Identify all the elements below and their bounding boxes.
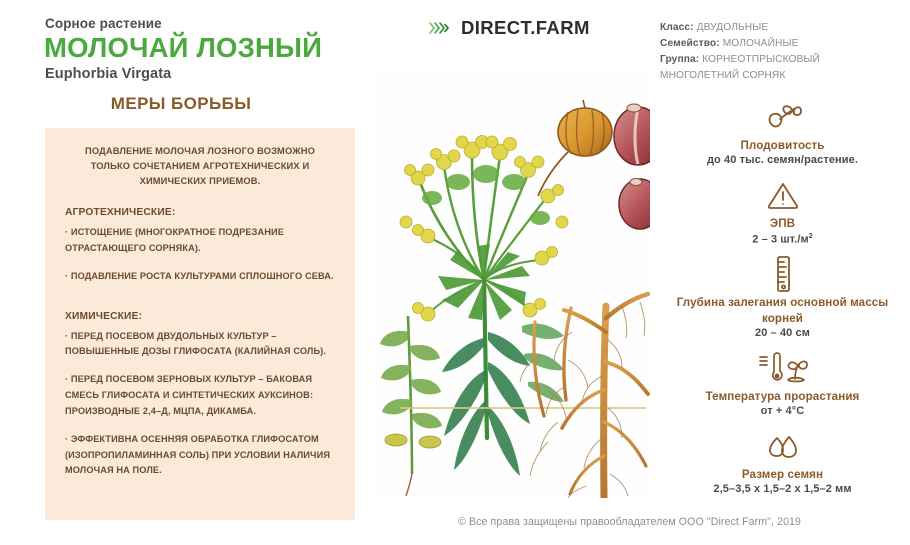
intro-text: ПОДАВЛЕНИЕ МОЛОЧАЯ ЛОЗНОГО ВОЗМОЖНО ТОЛЬ… bbox=[65, 144, 335, 189]
taxonomy-block: Класс: ДВУДОЛЬНЫЕ Семейство: МОЛОЧАЙНЫЕ … bbox=[660, 20, 910, 84]
chemical-heading: ХИМИЧЕСКИЕ: bbox=[65, 311, 335, 322]
fact-value: от + 4°C bbox=[655, 405, 910, 417]
list-item: · ПЕРЕД ПОСЕВОМ ЗЕРНОВЫХ КУЛЬТУР – БАКОВ… bbox=[65, 372, 335, 419]
taxonomy-class-row: Класс: ДВУДОЛЬНЫЕ bbox=[660, 20, 910, 36]
taxonomy-group-value: КОРНЕОТПРЫСКОВЫЙ bbox=[702, 54, 820, 65]
control-measures-panel: ПОДАВЛЕНИЕ МОЛОЧАЯ ЛОЗНОГО ВОЗМОЖНО ТОЛЬ… bbox=[45, 128, 355, 520]
fact-title: Глубина залегания основной массы корней bbox=[655, 295, 910, 326]
taxonomy-group-value-continued: МНОГОЛЕТНИЙ СОРНЯК bbox=[660, 68, 910, 84]
list-item: · ПОДАВЛЕНИЕ РОСТА КУЛЬТУРАМИ СПЛОШНОГО … bbox=[65, 269, 335, 285]
measures-section-title: МЕРЫ БОРЬБЫ bbox=[0, 94, 362, 114]
fact-economic-threshold: ЭПВ 2 – 3 шт./м2 bbox=[655, 178, 910, 245]
right-column: Класс: ДВУДОЛЬНЫЕ Семейство: МОЛОЧАЙНЫЕ … bbox=[655, 0, 910, 545]
section-spacer bbox=[65, 297, 335, 311]
list-item: · ИСТОЩЕНИЕ (МНОГОКРАТНОЕ ПОДРЕЗАНИЕ ОТР… bbox=[65, 225, 335, 257]
list-item: · ЭФФЕКТИВНА ОСЕННЯЯ ОБРАБОТКА ГЛИФОСАТО… bbox=[65, 432, 335, 479]
fact-seed-size: Размер семян 2,5–3,5 х 1,5–2 х 1,5–2 мм bbox=[655, 429, 910, 495]
fact-title: Плодовитость bbox=[655, 138, 910, 153]
fact-value-text: 2 – 3 шт./м bbox=[752, 233, 808, 245]
copyright-footer: © Все права защищены правообладателем ОО… bbox=[458, 516, 801, 528]
fact-value: 20 – 40 см bbox=[655, 327, 910, 339]
fact-fecundity: Плодовитость до 40 тыс. семян/растение. bbox=[655, 100, 910, 166]
euphorbia-virgata-botanical-illustration bbox=[372, 70, 650, 498]
ruler-icon bbox=[655, 257, 910, 291]
page-title: МОЛОЧАЙ ЛОЗНЫЙ bbox=[44, 32, 322, 64]
sprouting-seed-icon bbox=[655, 100, 910, 134]
agrotechnical-heading: АГРОТЕХНИЧЕСКИЕ: bbox=[65, 207, 335, 218]
taxonomy-class-label: Класс: bbox=[660, 22, 694, 33]
thermometer-sprout-icon bbox=[655, 351, 910, 385]
logo-wordmark: DIRECT.FARM bbox=[461, 17, 590, 39]
wave-chevrons-icon bbox=[428, 19, 452, 37]
list-item: · ПЕРЕД ПОСЕВОМ ДВУДОЛЬНЫХ КУЛЬТУР – ПОВ… bbox=[65, 329, 335, 361]
facts-list: Плодовитость до 40 тыс. семян/растение. … bbox=[655, 100, 910, 507]
fact-title: ЭПВ bbox=[655, 216, 910, 231]
fact-title: Температура прорастания bbox=[655, 389, 910, 404]
taxonomy-family-value: МОЛОЧАЙНЫЕ bbox=[723, 38, 799, 49]
two-seeds-icon bbox=[655, 429, 910, 463]
fact-root-depth: Глубина залегания основной массы корней … bbox=[655, 257, 910, 339]
warning-triangle-icon bbox=[655, 178, 910, 212]
latin-name-label: Euphorbia Virgata bbox=[45, 66, 171, 82]
kicker-label: Сорное растение bbox=[45, 16, 162, 31]
fact-value: до 40 тыс. семян/растение. bbox=[655, 154, 910, 166]
fact-germination-temperature: Температура прорастания от + 4°C bbox=[655, 351, 910, 417]
fact-value-superscript: 2 bbox=[809, 233, 813, 240]
fact-title: Размер семян bbox=[655, 467, 910, 482]
left-column: Сорное растение МОЛОЧАЙ ЛОЗНЫЙ Euphorbia… bbox=[0, 0, 362, 545]
fact-value: 2 – 3 шт./м2 bbox=[655, 233, 910, 246]
taxonomy-group-row: Группа: КОРНЕОТПРЫСКОВЫЙ bbox=[660, 52, 910, 68]
brand-logo[interactable]: DIRECT.FARM bbox=[428, 17, 590, 39]
taxonomy-group-label: Группа: bbox=[660, 54, 699, 65]
taxonomy-family-label: Семейство: bbox=[660, 38, 720, 49]
taxonomy-family-row: Семейство: МОЛОЧАЙНЫЕ bbox=[660, 36, 910, 52]
fact-value: 2,5–3,5 х 1,5–2 х 1,5–2 мм bbox=[655, 483, 910, 495]
taxonomy-class-value: ДВУДОЛЬНЫЕ bbox=[697, 22, 769, 33]
